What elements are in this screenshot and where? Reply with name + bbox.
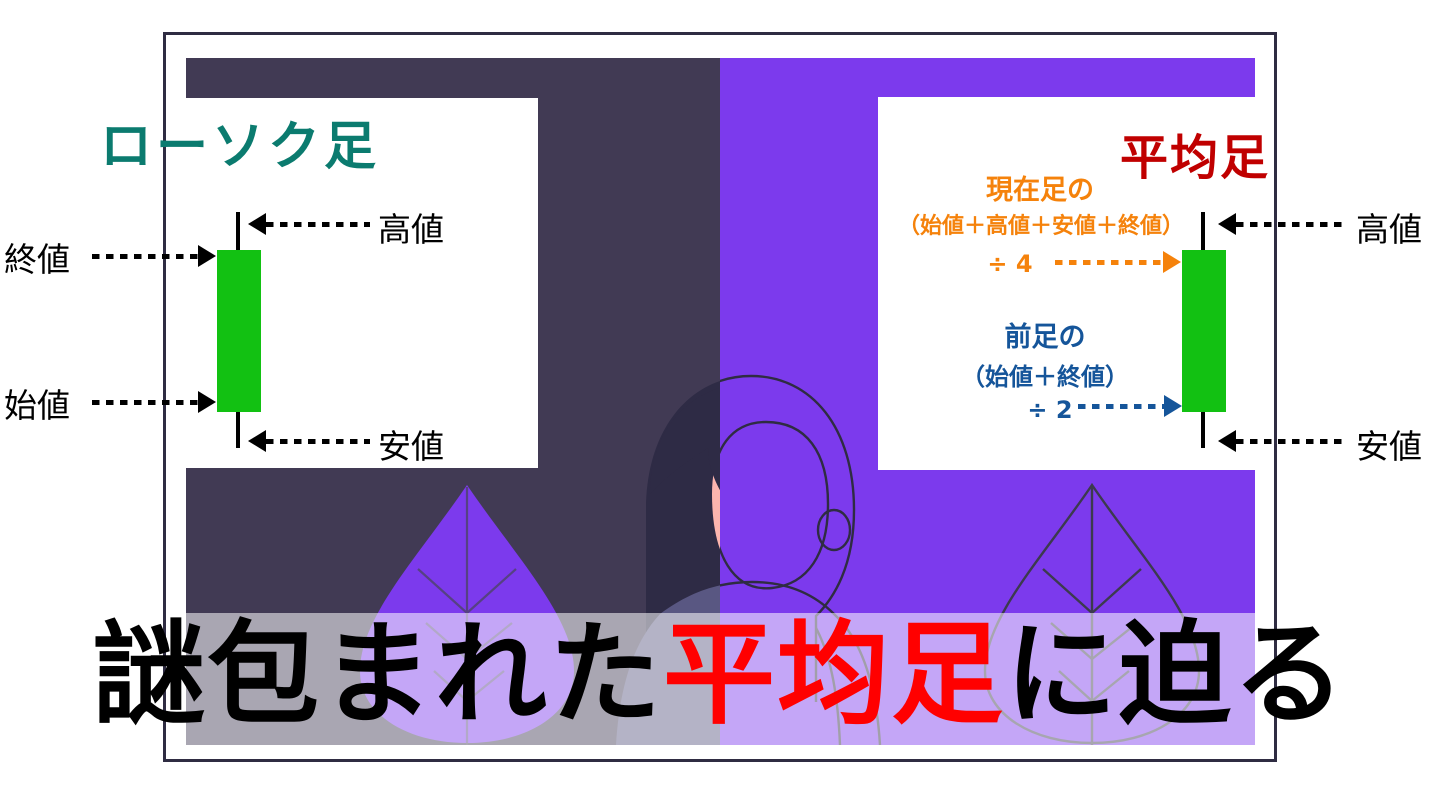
label-high-left: 高値 [378, 203, 444, 251]
arrow-dots [266, 222, 370, 227]
label-high-right: 高値 [1356, 203, 1422, 251]
arrow-dots [92, 400, 198, 405]
arrow-dots [1078, 404, 1164, 409]
formula-current-line2: （始値＋高値＋安値＋終値） [876, 208, 1206, 240]
candle-body [1182, 250, 1226, 412]
arrow-head-icon [198, 245, 216, 267]
formula-current-line1: 現在足の [880, 168, 1200, 207]
arrow-head-icon [1163, 251, 1181, 273]
arrow-high-right [1218, 218, 1346, 230]
candlestick-heading: ローソク足 [100, 104, 380, 179]
headline-part1: 謎包まれた [93, 619, 663, 731]
arrow-previous-formula [1078, 400, 1182, 412]
poster-headline: 謎包まれた平均足に迫る [0, 612, 1440, 737]
headline-part3: に迫る [1005, 619, 1347, 731]
arrow-dots [266, 439, 370, 444]
formula-previous-line2: （始値＋終値） [925, 357, 1165, 392]
arrow-close-left [92, 250, 216, 262]
arrow-dots [1055, 260, 1163, 265]
arrow-dots [92, 254, 198, 259]
arrow-head-icon [1218, 430, 1236, 452]
arrow-head-icon [198, 391, 216, 413]
label-low-left: 安値 [378, 420, 444, 468]
arrow-head-icon [1164, 395, 1182, 417]
arrow-dots [1236, 222, 1346, 227]
arrow-head-icon [1218, 213, 1236, 235]
arrow-low-left [248, 435, 370, 447]
label-open-left: 始値 [4, 379, 70, 427]
formula-current-line3: ÷ 4 [960, 250, 1060, 278]
poster-canvas: ローソク足 高値 終値 始値 安値 平均足 現在足の （始値＋高値＋安値＋終値）… [0, 0, 1440, 803]
arrow-dots [1236, 439, 1346, 444]
arrow-head-icon [248, 430, 266, 452]
arrow-low-right [1218, 435, 1346, 447]
headline-part2-highlight: 平均足 [663, 619, 1005, 731]
arrow-current-formula [1055, 256, 1181, 268]
candle-body [217, 250, 261, 412]
arrow-head-icon [248, 213, 266, 235]
label-low-right: 安値 [1356, 420, 1422, 468]
label-close-left: 終値 [4, 233, 70, 281]
arrow-open-left [92, 396, 216, 408]
formula-previous-line1: 前足の [935, 315, 1155, 354]
arrow-high-left [248, 218, 370, 230]
